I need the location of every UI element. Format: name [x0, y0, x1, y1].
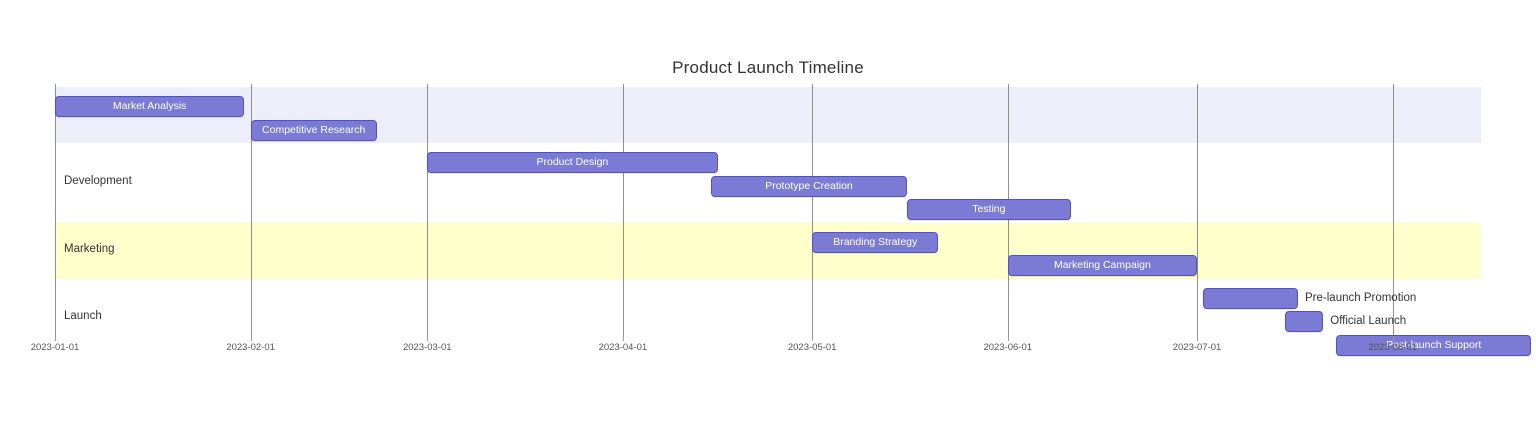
tick-label-2023-01-01: 2023-01-01	[31, 342, 80, 353]
tick-mark-2023-06-01	[1008, 336, 1009, 341]
task-bar-branding-strategy[interactable]: Branding Strategy	[812, 232, 938, 253]
tick-mark-2023-02-01	[251, 336, 252, 341]
tick-label-2023-02-01: 2023-02-01	[226, 342, 275, 353]
tick-mark-2023-05-01	[812, 336, 813, 341]
task-label-competitive-research: Competitive Research	[252, 121, 376, 142]
task-label-market-analysis: Market Analysis	[56, 97, 243, 118]
task-label-prototype-creation: Prototype Creation	[712, 177, 906, 198]
gantt-plot-area: ResearchDevelopmentMarketingLaunch Marke…	[55, 84, 1481, 336]
tick-label-2023-08-01: 2023-08-01	[1368, 342, 1417, 353]
tick-mark-2023-03-01	[427, 336, 428, 341]
tick-mark-2023-08-01	[1393, 336, 1394, 341]
time-axis: 2023-01-012023-02-012023-03-012023-04-01…	[55, 336, 1481, 366]
task-label-testing: Testing	[908, 200, 1070, 221]
task-label-marketing-campaign: Marketing Campaign	[1009, 256, 1196, 277]
tick-mark-2023-07-01	[1197, 336, 1198, 341]
task-label-product-design: Product Design	[428, 153, 716, 174]
tick-label-2023-03-01: 2023-03-01	[403, 342, 452, 353]
task-bar-official-launch[interactable]	[1285, 311, 1323, 332]
section-band-marketing	[55, 223, 1481, 279]
tick-label-2023-06-01: 2023-06-01	[983, 342, 1032, 353]
tick-label-2023-04-01: 2023-04-01	[599, 342, 648, 353]
tick-mark-2023-04-01	[623, 336, 624, 341]
tick-label-2023-07-01: 2023-07-01	[1173, 342, 1222, 353]
task-bar-pre-launch-promotion[interactable]	[1203, 288, 1298, 309]
tick-label-2023-05-01: 2023-05-01	[788, 342, 837, 353]
gridline-2023-03-01	[427, 84, 428, 336]
gridline-2023-01-01	[55, 84, 56, 336]
section-label-development: Development	[64, 175, 132, 187]
gantt-chart: Product Launch Timeline ResearchDevelopm…	[0, 0, 1536, 431]
gridline-2023-05-01	[812, 84, 813, 336]
chart-title: Product Launch Timeline	[0, 58, 1536, 78]
task-label-branding-strategy: Branding Strategy	[813, 233, 937, 254]
task-bar-testing[interactable]: Testing	[907, 199, 1071, 220]
section-label-marketing: Marketing	[64, 243, 115, 255]
tick-mark-2023-01-01	[55, 336, 56, 341]
task-bar-market-analysis[interactable]: Market Analysis	[55, 96, 244, 117]
task-bar-prototype-creation[interactable]: Prototype Creation	[711, 176, 907, 197]
gridline-2023-04-01	[623, 84, 624, 336]
gridline-2023-08-01	[1393, 84, 1394, 336]
gridline-2023-07-01	[1197, 84, 1198, 336]
task-bar-competitive-research[interactable]: Competitive Research	[251, 120, 377, 141]
task-bar-product-design[interactable]: Product Design	[427, 152, 717, 173]
task-bar-marketing-campaign[interactable]: Marketing Campaign	[1008, 255, 1197, 276]
section-label-launch: Launch	[64, 310, 102, 322]
